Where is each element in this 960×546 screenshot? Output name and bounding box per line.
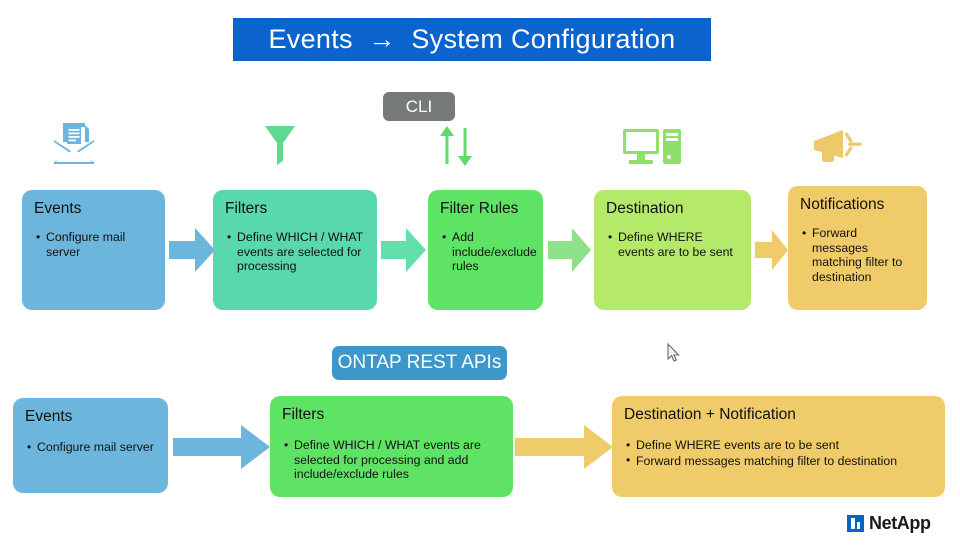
rest-box-filters: Filters Define WHICH / WHAT events are s…: [270, 396, 513, 497]
list-item: Define WHICH / WHAT events are selected …: [237, 230, 366, 274]
netapp-wordmark: NetApp: [869, 513, 931, 534]
flow-arrow-2: [381, 228, 426, 277]
box-title: Destination: [606, 199, 740, 218]
rest-flow-arrow-2: [515, 425, 613, 474]
ontap-rest-api-label-chip: ONTAP REST APIs: [332, 346, 507, 380]
list-item: Configure mail server: [46, 230, 154, 259]
flow-arrow-4: [755, 230, 788, 275]
rest-box-destination-notification: Destination + Notification Define WHERE …: [612, 396, 945, 497]
filter-funnel-icon: [262, 123, 298, 172]
box-title: Filter Rules: [440, 199, 532, 218]
slide-canvas: Events → System Configuration CLI: [0, 0, 960, 546]
mouse-cursor: [667, 343, 681, 368]
box-title: Filters: [282, 405, 502, 424]
box-title: Events: [34, 199, 154, 218]
rest-flow-arrow-1: [173, 425, 270, 474]
list-item: Define WHICH / WHAT events are selected …: [294, 438, 502, 482]
box-title: Destination + Notification: [624, 405, 934, 424]
cli-box-filter-rules: Filter Rules Add include/exclude rules: [428, 190, 543, 310]
box-bullet-list: Add include/exclude rules: [440, 230, 532, 274]
box-bullet-list: Define WHICH / WHAT events are selected …: [282, 438, 502, 482]
page-title: Events → System Configuration: [269, 24, 676, 55]
netapp-mark-icon: [847, 515, 864, 532]
netapp-logo: NetApp: [847, 513, 931, 534]
flow-arrow-1: [169, 228, 215, 277]
flow-arrow-3: [548, 228, 591, 277]
desktop-computer-icon: [623, 127, 683, 172]
cli-box-events: Events Configure mail server: [22, 190, 165, 310]
box-bullet-list: Define WHICH / WHAT events are selected …: [225, 230, 366, 274]
cli-box-destination: Destination Define WHERE events are to b…: [594, 190, 751, 310]
megaphone-icon: [812, 128, 866, 171]
cli-box-notifications: Notifications Forward messages matching …: [788, 186, 927, 310]
list-item: Forward messages matching filter to dest…: [636, 454, 934, 469]
ontap-rest-api-label-text: ONTAP REST APIs: [338, 352, 502, 374]
mail-envelope-icon: [52, 120, 96, 171]
box-bullet-list: Define WHERE events are to be sent: [606, 230, 740, 259]
box-bullet-list: Configure mail server: [25, 440, 157, 455]
list-item: Forward messages matching filter to dest…: [812, 226, 916, 284]
cli-box-filters: Filters Define WHICH / WHAT events are s…: [213, 190, 377, 310]
cli-label-chip: CLI: [383, 92, 455, 121]
box-bullet-list: Forward messages matching filter to dest…: [800, 226, 916, 284]
box-title: Events: [25, 407, 157, 426]
page-title-banner: Events → System Configuration: [233, 18, 711, 61]
list-item: Add include/exclude rules: [452, 230, 532, 274]
cli-label-text: CLI: [406, 97, 432, 117]
rest-box-events: Events Configure mail server: [13, 398, 168, 493]
box-title: Notifications: [800, 195, 916, 214]
box-bullet-list: Configure mail server: [34, 230, 154, 259]
box-bullet-list: Define WHERE events are to be sent Forwa…: [624, 438, 934, 468]
box-title: Filters: [225, 199, 366, 218]
list-item: Define WHERE events are to be sent: [618, 230, 740, 259]
list-item: Define WHERE events are to be sent: [636, 438, 934, 453]
up-down-arrows-icon: [434, 124, 478, 173]
list-item: Configure mail server: [37, 440, 157, 455]
